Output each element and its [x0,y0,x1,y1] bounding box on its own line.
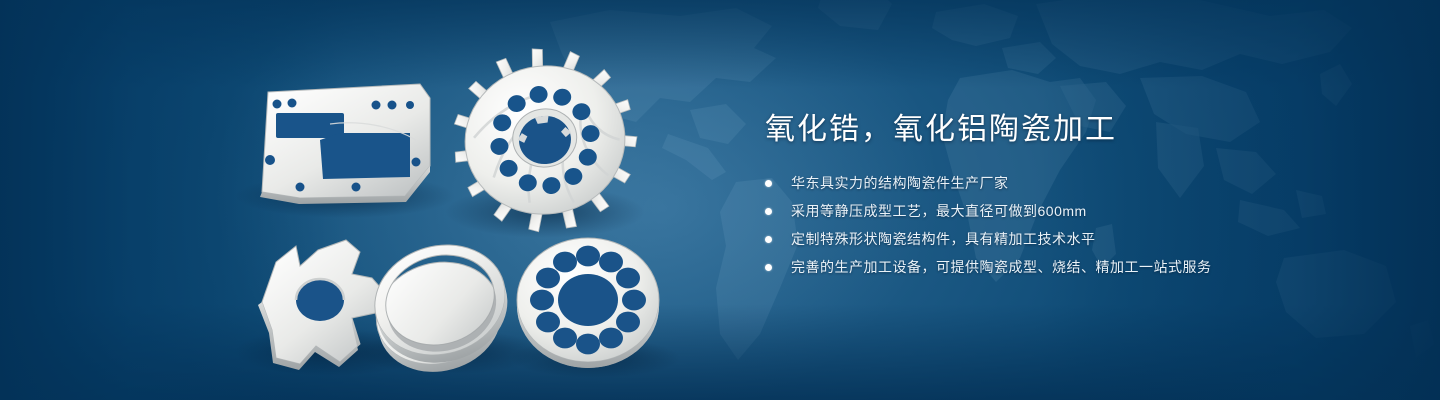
list-item: 定制特殊形状陶瓷结构件，具有精加工技术水平 [765,228,1385,250]
part-ceramic-plate [260,84,430,204]
feature-text: 定制特殊形状陶瓷结构件，具有精加工技术水平 [791,231,1096,247]
part-ceramic-flange-disc [517,238,659,368]
feature-list: 华东具实力的结构陶瓷件生产厂家 采用等静压成型工艺，最大直径可做到600mm 定… [765,172,1385,278]
feature-text: 华东具实力的结构陶瓷件生产厂家 [791,175,1009,191]
bullet-dot-icon [765,264,772,271]
ceramic-parts-image [0,0,740,400]
feature-text: 完善的生产加工设备，可提供陶瓷成型、烧结、精加工一站式服务 [791,259,1212,275]
list-item: 采用等静压成型工艺，最大直径可做到600mm [765,200,1385,222]
bullet-dot-icon [765,236,772,243]
bullet-dot-icon [765,208,772,215]
banner-copy: 氧化锆，氧化铝陶瓷加工 华东具实力的结构陶瓷件生产厂家 采用等静压成型工艺，最大… [765,110,1385,284]
bullet-dot-icon [765,180,772,187]
list-item: 华东具实力的结构陶瓷件生产厂家 [765,172,1385,194]
hero-banner: 氧化锆，氧化铝陶瓷加工 华东具实力的结构陶瓷件生产厂家 采用等静压成型工艺，最大… [0,0,1440,400]
feature-text: 采用等静压成型工艺，最大直径可做到600mm [791,203,1087,219]
list-item: 完善的生产加工设备，可提供陶瓷成型、烧结、精加工一站式服务 [765,256,1385,278]
page-title: 氧化锆，氧化铝陶瓷加工 [765,110,1385,150]
